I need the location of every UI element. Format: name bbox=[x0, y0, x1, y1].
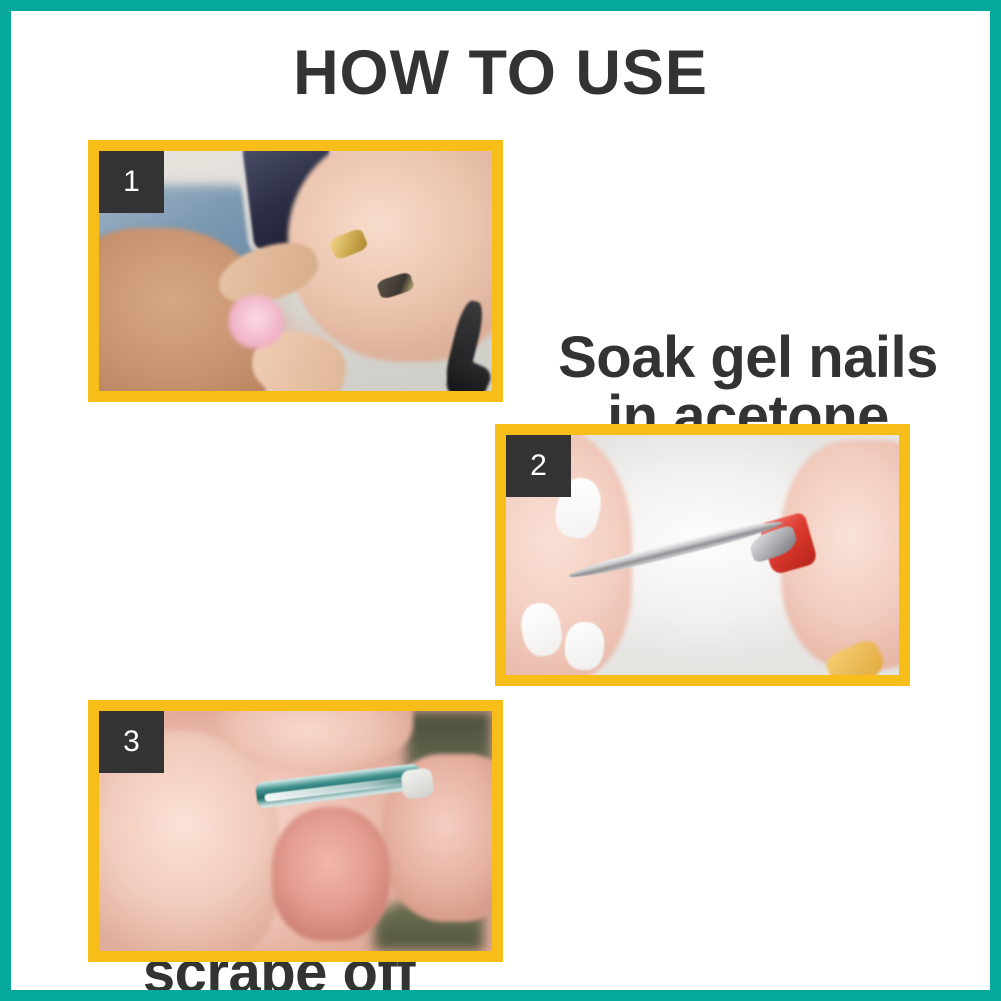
step-3-photo-card: 3 bbox=[88, 700, 503, 962]
step-2-photo-card: 2 bbox=[495, 424, 910, 686]
border-top bbox=[0, 0, 1001, 11]
step-row-1: 1 Soak gel nails in acetone bbox=[11, 140, 990, 402]
step-2-photo: 2 bbox=[506, 435, 899, 675]
step-2-number-badge: 2 bbox=[506, 435, 571, 497]
step-1-photo-card: 1 bbox=[88, 140, 503, 402]
step-row-3: 3 Gently push cuticles bbox=[11, 700, 990, 962]
tool-tip-shape bbox=[400, 767, 435, 799]
step-1-photo: 1 bbox=[99, 151, 492, 391]
step-row-2: Very gently scrape off gel 2 bbox=[11, 424, 990, 686]
step-3-photo: 3 bbox=[99, 711, 492, 951]
step-3-number-badge: 3 bbox=[99, 711, 164, 773]
step-1-number-badge: 1 bbox=[99, 151, 164, 213]
thumb-shape bbox=[272, 807, 390, 941]
how-to-use-poster: HOW TO USE 1 Soak gel nails bbox=[0, 0, 1001, 1001]
page-title: HOW TO USE bbox=[0, 42, 1001, 105]
border-right bbox=[990, 0, 1001, 1001]
border-bottom bbox=[0, 990, 1001, 1001]
cotton-pad-shape bbox=[229, 295, 284, 348]
border-left bbox=[0, 0, 11, 1001]
step-1-caption-line-1: Soak gel nails bbox=[524, 328, 972, 387]
